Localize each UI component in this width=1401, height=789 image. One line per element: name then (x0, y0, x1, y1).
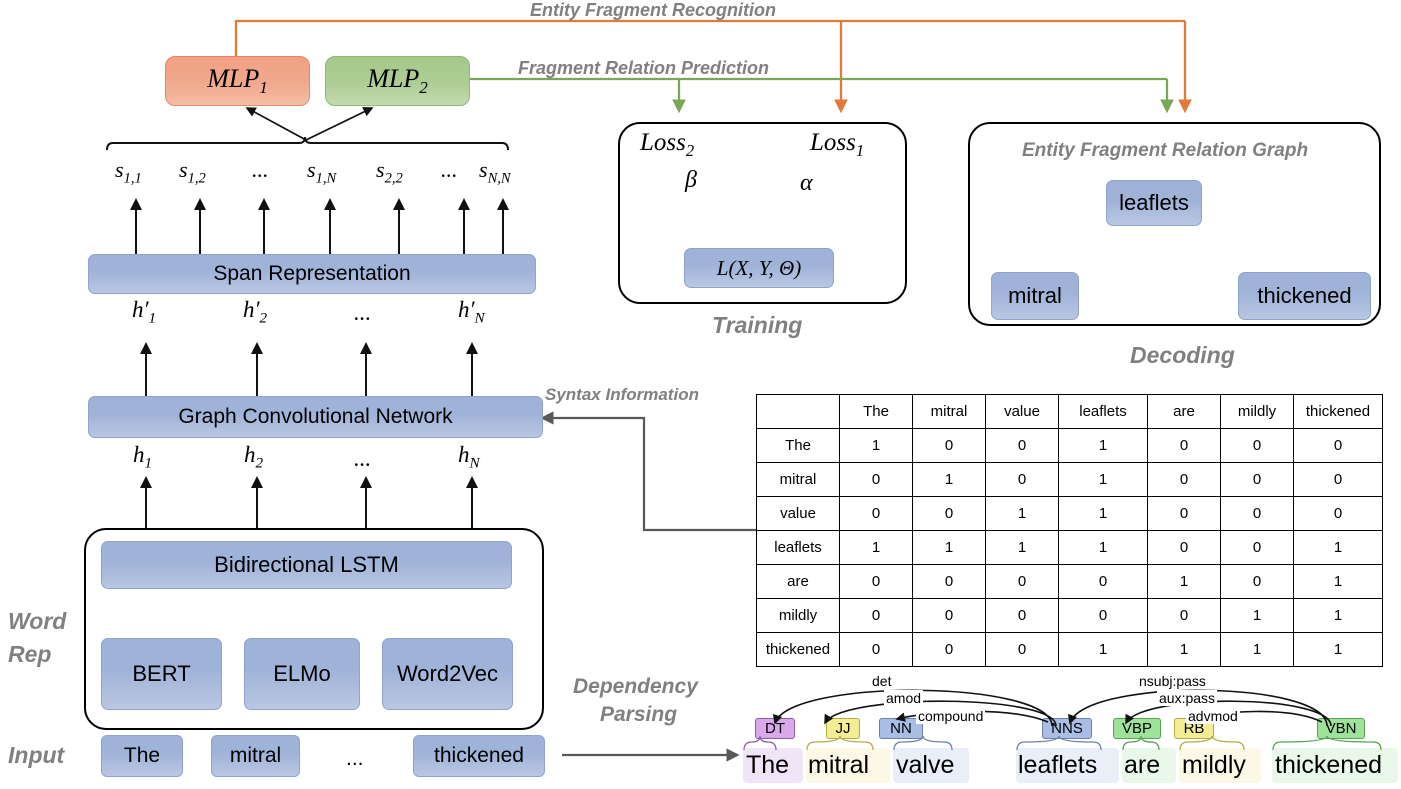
token-brace-layer (0, 0, 1401, 789)
figure-canvas: Entity Fragment Recognition Fragment Rel… (0, 0, 1401, 789)
